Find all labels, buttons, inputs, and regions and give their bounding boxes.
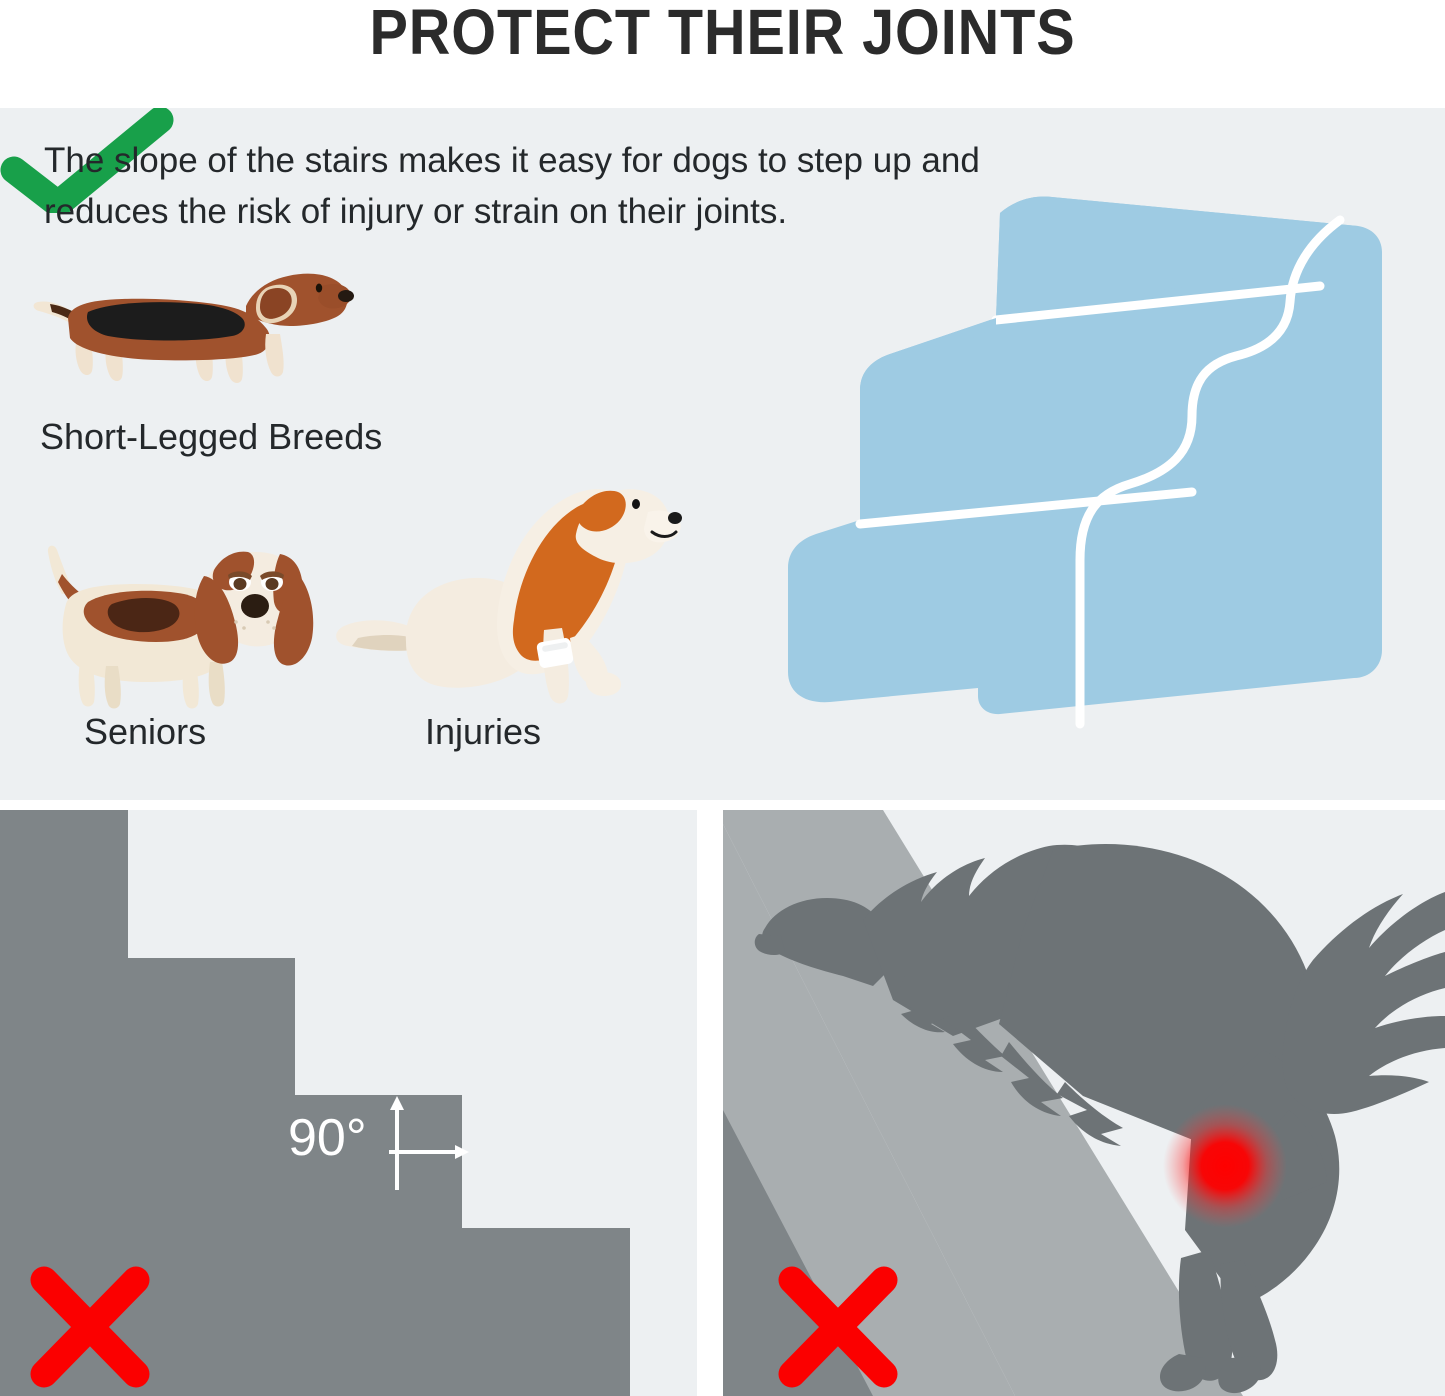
dog-label-short-legged-breeds: Short-Legged Breeds <box>40 416 382 458</box>
dog-label-seniors: Seniors <box>84 711 206 753</box>
infographic-page: PROTECT THEIR JOINTS The slope of the st… <box>0 0 1445 1396</box>
page-title: PROTECT THEIR JOINTS <box>72 0 1373 70</box>
red-pain-glow-icon <box>1163 1104 1287 1228</box>
red-x-icon-left <box>22 1262 158 1392</box>
blue-foam-pet-stairs-icon <box>700 168 1420 778</box>
red-x-icon-right <box>770 1262 906 1392</box>
injured-dog-bandage-icon <box>318 460 688 710</box>
angle-label-90-degrees: 90° <box>288 1108 367 1168</box>
basset-hound-standing-icon <box>30 256 360 386</box>
senior-basset-hound-icon <box>28 530 328 710</box>
dog-label-injuries: Injuries <box>425 711 541 753</box>
top-panel-recommended: The slope of the stairs makes it easy fo… <box>0 108 1445 800</box>
right-angle-arrows-icon <box>385 1090 475 1200</box>
